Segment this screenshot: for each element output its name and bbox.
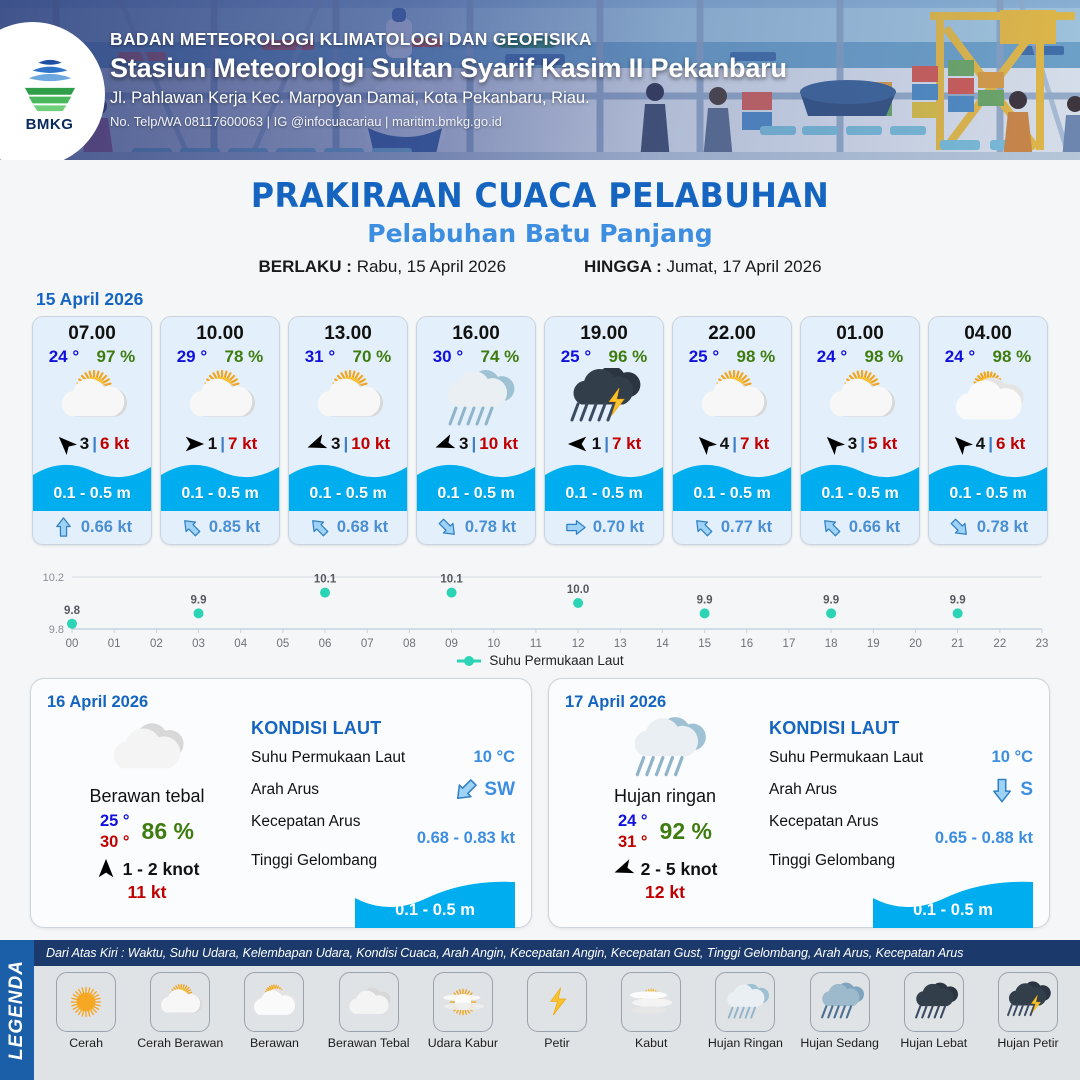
card-wind-separator: | [92,434,97,454]
svg-text:01: 01 [108,638,121,650]
legend-item: Berawan Tebal [323,972,415,1050]
card-wave-height: 0.1 - 0.5 m [417,485,535,503]
card-gust: 7 kt [228,434,257,454]
card-wind-separator: | [220,434,225,454]
panel-sea-title: KONDISI LAUT [769,718,1033,739]
card-wind: 4 | 7 kt [673,431,791,459]
wind-direction-arrow [695,433,717,455]
panel-gust: 11 kt [47,882,247,903]
panel-wave-value: 0.1 - 0.5 m [355,901,515,920]
card-gust: 6 kt [996,434,1025,454]
cerah-berawan-icon [161,367,279,431]
valid-from: BERLAKU : Rabu, 15 April 2026 [258,257,506,277]
svg-text:10.1: 10.1 [314,574,337,586]
chart-legend: Suhu Permukaan Laut [0,653,1080,668]
panel-temp-min: 25 ° [100,811,130,832]
card-humidity: 98 % [865,347,904,367]
panel-current-speed-label: Kecepatan Arus [251,813,360,831]
card-wind: 3 | 6 kt [33,431,151,459]
wind-direction-arrow [95,858,117,880]
card-time: 19.00 [545,317,663,345]
card-current-speed: 0.77 kt [721,518,772,537]
card-wave: 0.1 - 0.5 m [289,459,407,511]
card-current-speed: 0.68 kt [337,518,388,537]
forecast-card[interactable]: 07.00 24 ° 97 % 3 | 6 kt 0.1 - 0.5 m [32,316,152,545]
daily-forecast-panel[interactable]: 16 April 2026 Berawan tebal 25 ° 30 ° 86… [30,678,532,928]
forecast-card[interactable]: 10.00 29 ° 78 % 1 | 7 kt 0.1 - 0.5 m [160,316,280,545]
svg-text:21: 21 [951,638,964,650]
wind-direction-arrow [951,433,973,455]
panel-wind-range: 1 - 2 knot [123,859,200,880]
panel-current-dir-value: SW [452,776,515,804]
card-wave-height: 0.1 - 0.5 m [161,485,279,503]
card-time: 22.00 [673,317,791,345]
hujan-petir-icon [998,972,1058,1032]
daily-forecast-panel[interactable]: 17 April 2026 Hujan ringan 24 ° 31 ° 92 … [548,678,1050,928]
card-wave-height: 0.1 - 0.5 m [801,485,919,503]
valid-until-value: Jumat, 17 April 2026 [667,257,822,276]
svg-text:9.9: 9.9 [191,594,207,606]
current-direction-arrow [564,516,587,539]
card-time: 16.00 [417,317,535,345]
card-wind: 3 | 10 kt [417,431,535,459]
card-wave-height: 0.1 - 0.5 m [929,485,1047,503]
card-wind-speed: 4 [720,434,729,454]
panel-gust: 12 kt [565,882,765,903]
card-time: 10.00 [161,317,279,345]
card-current: 0.66 kt [33,511,151,544]
cerah-berawan-icon [289,367,407,431]
card-humidity: 70 % [353,347,392,367]
panel-current-dir-value: S [988,776,1033,804]
panel-sst-value: 10 °C [992,748,1033,767]
card-gust: 5 kt [868,434,897,454]
panel-date: 17 April 2026 [565,693,1033,712]
svg-text:00: 00 [66,638,79,650]
panel-humidity: 86 % [142,818,194,845]
svg-text:13: 13 [614,638,627,650]
card-current: 0.78 kt [417,511,535,544]
hujan-ringan-icon [417,367,535,431]
svg-text:9.9: 9.9 [950,594,966,606]
current-direction-arrow [308,516,331,539]
card-current-speed: 0.85 kt [209,518,260,537]
chart-legend-marker [456,655,482,667]
panel-wave-label: Tinggi Gelombang [251,852,377,870]
card-wave: 0.1 - 0.5 m [801,459,919,511]
cerah-berawan-icon [33,367,151,431]
card-current: 0.85 kt [161,511,279,544]
card-wind-separator: | [604,434,609,454]
forecast-card[interactable]: 22.00 25 ° 98 % 4 | 7 kt 0.1 - 0.5 m [672,316,792,545]
card-humidity: 98 % [993,347,1032,367]
card-time: 13.00 [289,317,407,345]
legend-item-label: Hujan Petir [982,1036,1074,1050]
berawan-tebal-icon [47,714,247,782]
svg-text:11: 11 [530,638,542,650]
station-address: Jl. Pahlawan Kerja Kec. Marpoyan Damai, … [110,89,787,108]
forecast-card[interactable]: 01.00 24 ° 98 % 3 | 5 kt 0.1 - 0.5 m [800,316,920,545]
card-current-speed: 0.66 kt [81,518,132,537]
panel-temp-max: 31 ° [618,832,648,853]
panel-humidity: 92 % [660,818,712,845]
hujan-ringan-icon [565,714,765,782]
legend-item: Petir [511,972,603,1050]
current-direction-arrow [436,516,459,539]
card-wave-height: 0.1 - 0.5 m [33,485,151,503]
card-temperature: 30 ° [433,347,463,367]
current-direction-arrow [692,516,715,539]
current-direction-arrow [180,516,203,539]
svg-text:9.9: 9.9 [823,594,839,606]
panel-current-speed-label: Kecepatan Arus [769,813,878,831]
card-humidity: 97 % [97,347,136,367]
svg-text:17: 17 [783,638,796,650]
card-time: 07.00 [33,317,151,345]
card-temperature: 24 ° [817,347,847,367]
panel-current-dir-label: Arah Arus [769,781,837,799]
card-wave-height: 0.1 - 0.5 m [289,485,407,503]
card-wind-separator: | [732,434,737,454]
card-wind-speed: 3 [848,434,857,454]
card-wind-speed: 3 [80,434,89,454]
legend-item: Hujan Sedang [794,972,886,1050]
card-wave: 0.1 - 0.5 m [417,459,535,511]
svg-text:09: 09 [445,638,458,650]
page-title: PRAKIRAAN CUACA PELABUHAN [38,176,1042,216]
daily-forecast-row: 16 April 2026 Berawan tebal 25 ° 30 ° 86… [0,668,1080,928]
forecast-card[interactable]: 04.00 24 ° 98 % 4 | 6 kt 0.1 - 0.5 m [928,316,1048,545]
svg-text:9.8: 9.8 [49,624,64,636]
current-direction-arrow [820,516,843,539]
legend-item: Cerah Berawan [134,972,226,1050]
panel-wave-label: Tinggi Gelombang [769,852,895,870]
card-temperature: 24 ° [49,347,79,367]
wind-direction-arrow [55,433,77,455]
card-wind-speed: 1 [592,434,601,454]
hujan-lebat-icon [904,972,964,1032]
legend-item-label: Kabut [605,1036,697,1050]
svg-text:10.2: 10.2 [43,572,64,584]
panel-wave: 0.1 - 0.5 m [355,872,515,928]
page-subtitle: Pelabuhan Batu Panjang [0,219,1080,248]
panel-current-dir-label: Arah Arus [251,781,319,799]
panel-condition: Berawan tebal [47,786,247,807]
legend-item-label: Cerah Berawan [134,1036,226,1050]
legend-item: Kabut [605,972,697,1050]
svg-text:23: 23 [1036,638,1049,650]
kabut-icon [621,972,681,1032]
svg-text:07: 07 [361,638,374,650]
svg-text:9.9: 9.9 [697,594,713,606]
card-wind-speed: 3 [331,434,340,454]
svg-text:9.8: 9.8 [64,605,81,617]
panel-temp-min: 24 ° [618,811,648,832]
current-direction-arrow [52,516,75,539]
legend-item-label: Udara Kabur [417,1036,509,1050]
hourly-forecast-row: 07.00 24 ° 97 % 3 | 6 kt 0.1 - 0.5 m [0,316,1080,545]
legend-side-label: LEGENDA [6,960,28,1060]
valid-from-label: BERLAKU : [258,257,352,276]
legend-item-label: Hujan Lebat [888,1036,980,1050]
svg-text:16: 16 [740,638,753,650]
svg-text:10: 10 [487,638,500,650]
svg-text:18: 18 [825,638,838,650]
panel-current-speed-value: 0.68 - 0.83 kt [251,829,515,848]
legend-note: Dari Atas Kiri : Waktu, Suhu Udara, Kele… [34,940,1080,966]
panel-date: 16 April 2026 [47,693,515,712]
card-temperature: 24 ° [945,347,975,367]
hujan-petir-icon [545,367,663,431]
svg-text:15: 15 [698,638,711,650]
legend-footer: LEGENDA Dari Atas Kiri : Waktu, Suhu Uda… [0,940,1080,1080]
svg-text:02: 02 [150,638,163,650]
legend-item-label: Petir [511,1036,603,1050]
svg-text:19: 19 [867,638,880,650]
card-wind: 1 | 7 kt [545,431,663,459]
forecast-card[interactable]: 19.00 25 ° 96 % 1 | 7 kt 0.1 - 0.5 m [544,316,664,545]
berawan-icon [929,367,1047,431]
org-name: BADAN METEOROLOGI KLIMATOLOGI DAN GEOFIS… [110,29,787,50]
card-wind-separator: | [988,434,993,454]
svg-text:04: 04 [234,638,247,650]
svg-text:05: 05 [276,638,289,650]
sst-chart: 10.29.8000102030405060708091011121314151… [20,559,1060,651]
svg-text:06: 06 [319,638,332,650]
station-contact: No. Telp/WA 08117600063 | IG @infocuacar… [110,114,787,129]
svg-text:12: 12 [572,638,585,650]
wind-direction-arrow [567,433,589,455]
current-direction-arrow [988,776,1016,804]
card-wave: 0.1 - 0.5 m [545,459,663,511]
card-temperature: 31 ° [305,347,335,367]
card-wave-height: 0.1 - 0.5 m [545,485,663,503]
chart-legend-label: Suhu Permukaan Laut [489,653,623,668]
station-name: Stasiun Meteorologi Sultan Syarif Kasim … [110,53,787,84]
bmkg-logo-text: BMKG [26,116,74,133]
legend-item-label: Hujan Sedang [794,1036,886,1050]
wind-direction-arrow [434,433,456,455]
card-wave: 0.1 - 0.5 m [673,459,791,511]
forecast-card[interactable]: 13.00 31 ° 70 % 3 | 10 kt 0.1 - 0.5 m [288,316,408,545]
valid-until-label: HINGGA : [584,257,662,276]
card-wind-separator: | [343,434,348,454]
svg-text:22: 22 [993,638,1006,650]
card-gust: 10 kt [351,434,390,454]
legend-side-bar: LEGENDA [0,940,34,1080]
card-wind-speed: 3 [459,434,468,454]
legend-item-label: Cerah [40,1036,132,1050]
berawan-tebal-icon [339,972,399,1032]
card-gust: 7 kt [612,434,641,454]
udara-kabur-icon [433,972,493,1032]
card-wind-speed: 1 [208,434,217,454]
card-wave: 0.1 - 0.5 m [33,459,151,511]
card-humidity: 78 % [225,347,264,367]
card-wave: 0.1 - 0.5 m [161,459,279,511]
card-time: 01.00 [801,317,919,345]
current-direction-arrow [452,776,480,804]
forecast-card[interactable]: 16.00 30 ° 74 % 3 | 10 kt 0.1 - 0.5 m [416,316,536,545]
berawan-icon [244,972,304,1032]
card-temperature: 25 ° [561,347,591,367]
card-wind: 3 | 5 kt [801,431,919,459]
card-wave: 0.1 - 0.5 m [929,459,1047,511]
card-current-speed: 0.78 kt [465,518,516,537]
title-block: PRAKIRAAN CUACA PELABUHAN Pelabuhan Batu… [0,160,1080,277]
forecast-date-label: 15 April 2026 [36,289,1080,310]
legend-item: Udara Kabur [417,972,509,1050]
panel-wave-value: 0.1 - 0.5 m [873,901,1033,920]
wind-direction-arrow [613,858,635,880]
current-direction-arrow [948,516,971,539]
card-humidity: 96 % [609,347,648,367]
card-current: 0.77 kt [673,511,791,544]
cerah-berawan-icon [673,367,791,431]
card-gust: 6 kt [100,434,129,454]
legend-item: Hujan Lebat [888,972,980,1050]
card-wind-separator: | [860,434,865,454]
card-current: 0.78 kt [929,511,1047,544]
panel-sst-label: Suhu Permukaan Laut [769,749,923,767]
legend-item-label: Berawan [228,1036,320,1050]
panel-sea-title: KONDISI LAUT [251,718,515,739]
panel-current-dir-text: SW [484,779,515,801]
svg-text:14: 14 [656,638,669,650]
card-time: 04.00 [929,317,1047,345]
hujan-ringan-icon [715,972,775,1032]
card-humidity: 98 % [737,347,776,367]
card-current: 0.68 kt [289,511,407,544]
card-current-speed: 0.66 kt [849,518,900,537]
svg-text:03: 03 [192,638,205,650]
cerah-berawan-icon [150,972,210,1032]
bmkg-logo-icon [19,57,81,115]
card-wind: 3 | 10 kt [289,431,407,459]
card-current: 0.70 kt [545,511,663,544]
valid-from-value: Rabu, 15 April 2026 [357,257,506,276]
panel-wave: 0.1 - 0.5 m [873,872,1033,928]
petir-icon [527,972,587,1032]
panel-temp-max: 30 ° [100,832,130,853]
panel-wind: 1 - 2 knot [47,858,247,880]
svg-text:10.1: 10.1 [440,574,463,586]
page-header: BMKG BADAN METEOROLOGI KLIMATOLOGI DAN G… [0,0,1080,160]
valid-until: HINGGA : Jumat, 17 April 2026 [584,257,821,277]
card-wind: 1 | 7 kt [161,431,279,459]
svg-text:08: 08 [403,638,416,650]
panel-condition: Hujan ringan [565,786,765,807]
hujan-sedang-icon [810,972,870,1032]
legend-items: Cerah Cerah Berawan Berawan Berawan [34,966,1080,1050]
legend-item: Hujan Petir [982,972,1074,1050]
card-wind: 4 | 6 kt [929,431,1047,459]
card-wind-speed: 4 [976,434,985,454]
panel-current-dir-text: S [1020,779,1033,801]
panel-current-speed-value: 0.65 - 0.88 kt [769,829,1033,848]
card-humidity: 74 % [481,347,520,367]
legend-item-label: Berawan Tebal [323,1036,415,1050]
card-gust: 10 kt [479,434,518,454]
card-gust: 7 kt [740,434,769,454]
card-current-speed: 0.78 kt [977,518,1028,537]
card-temperature: 25 ° [689,347,719,367]
panel-wind-range: 2 - 5 knot [641,859,718,880]
panel-sst-label: Suhu Permukaan Laut [251,749,405,767]
card-current-speed: 0.70 kt [593,518,644,537]
card-temperature: 29 ° [177,347,207,367]
svg-text:20: 20 [909,638,922,650]
card-current: 0.66 kt [801,511,919,544]
validity-row: BERLAKU : Rabu, 15 April 2026 HINGGA : J… [0,257,1080,277]
legend-item: Berawan [228,972,320,1050]
panel-sst-value: 10 °C [474,748,515,767]
wind-direction-arrow [306,433,328,455]
cerah-berawan-icon [801,367,919,431]
panel-wind: 2 - 5 knot [565,858,765,880]
legend-item-label: Hujan Ringan [699,1036,791,1050]
card-wave-height: 0.1 - 0.5 m [673,485,791,503]
legend-item: Cerah [40,972,132,1050]
wind-direction-arrow [823,433,845,455]
svg-text:10.0: 10.0 [567,584,589,596]
card-wind-separator: | [471,434,476,454]
legend-item: Hujan Ringan [699,972,791,1050]
cerah-icon [56,972,116,1032]
wind-direction-arrow [183,433,205,455]
